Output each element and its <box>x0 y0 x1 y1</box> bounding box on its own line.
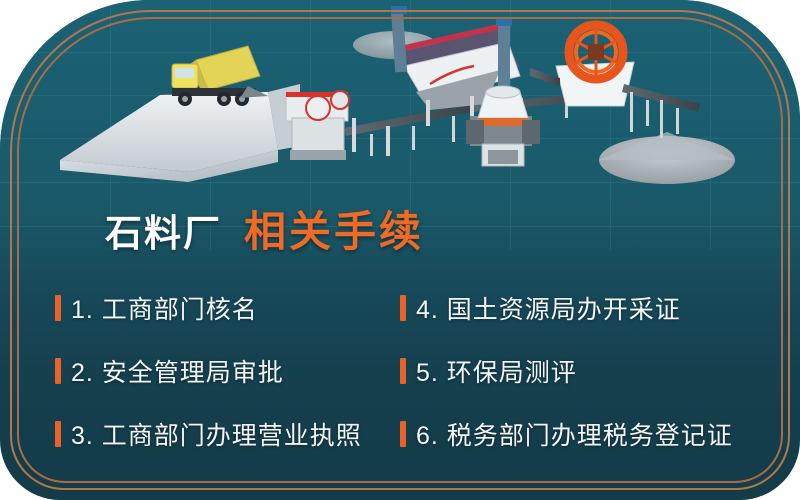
poster-card: 石料厂 相关手续 1. 工商部门核名 4. 国土资源局办开采证 <box>0 0 800 500</box>
page-title: 石料厂 相关手续 <box>105 198 424 259</box>
procedure-list: 1. 工商部门核名 4. 国土资源局办开采证 2. 安 <box>0 276 800 465</box>
procedure-column-left: 2. 安全管理局审批 <box>55 339 405 402</box>
list-item: 5. 环保局测评 <box>400 339 750 402</box>
bullet-marker-icon <box>55 421 61 447</box>
bullet-marker-icon <box>55 358 61 384</box>
procedure-row-2: 2. 安全管理局审批 5. 环保局测评 <box>0 339 800 402</box>
stone-plant-illustration <box>0 0 800 215</box>
procedure-row-1: 1. 工商部门核名 4. 国土资源局办开采证 <box>0 276 800 339</box>
procedure-column-right: 5. 环保局测评 <box>400 339 750 402</box>
list-item-label: 3. 工商部门办理营业执照 <box>71 416 362 452</box>
list-item-label: 5. 环保局测评 <box>416 353 577 389</box>
bullet-marker-icon <box>400 421 406 447</box>
procedure-content: 石料厂 相关手续 1. 工商部门核名 4. 国土资源局办开采证 <box>0 190 800 480</box>
sand-washer-icon <box>530 25 700 138</box>
procedure-row-3: 3. 工商部门办理营业执照 6. 税务部门办理税务登记证 <box>0 402 800 465</box>
jaw-crusher-icon <box>286 91 349 160</box>
procedure-column-left: 3. 工商部门办理营业执照 <box>55 402 405 465</box>
list-item: 3. 工商部门办理营业执照 <box>55 402 405 465</box>
title-accent: 相关手续 <box>244 198 424 259</box>
poster-stage: 石料厂 相关手续 1. 工商部门核名 4. 国土资源局办开采证 <box>0 0 800 500</box>
list-item-label: 2. 安全管理局审批 <box>71 353 284 389</box>
bullet-marker-icon <box>400 295 406 321</box>
list-item: 1. 工商部门核名 <box>55 276 405 339</box>
list-item: 6. 税务部门办理税务登记证 <box>400 402 750 465</box>
list-item: 2. 安全管理局审批 <box>55 339 405 402</box>
list-item-label: 1. 工商部门核名 <box>71 290 258 326</box>
list-item: 4. 国土资源局办开采证 <box>400 276 750 339</box>
bullet-marker-icon <box>55 295 61 321</box>
procedure-column-right: 6. 税务部门办理税务登记证 <box>400 402 750 465</box>
procedure-column-left: 1. 工商部门核名 <box>55 276 405 339</box>
procedure-column-right: 4. 国土资源局办开采证 <box>400 276 750 339</box>
dump-truck-icon <box>172 46 268 106</box>
list-item-label: 4. 国土资源局办开采证 <box>416 290 681 326</box>
bullet-marker-icon <box>400 358 406 384</box>
list-item-label: 6. 税务部门办理税务登记证 <box>416 416 733 452</box>
title-primary: 石料厂 <box>105 203 222 257</box>
